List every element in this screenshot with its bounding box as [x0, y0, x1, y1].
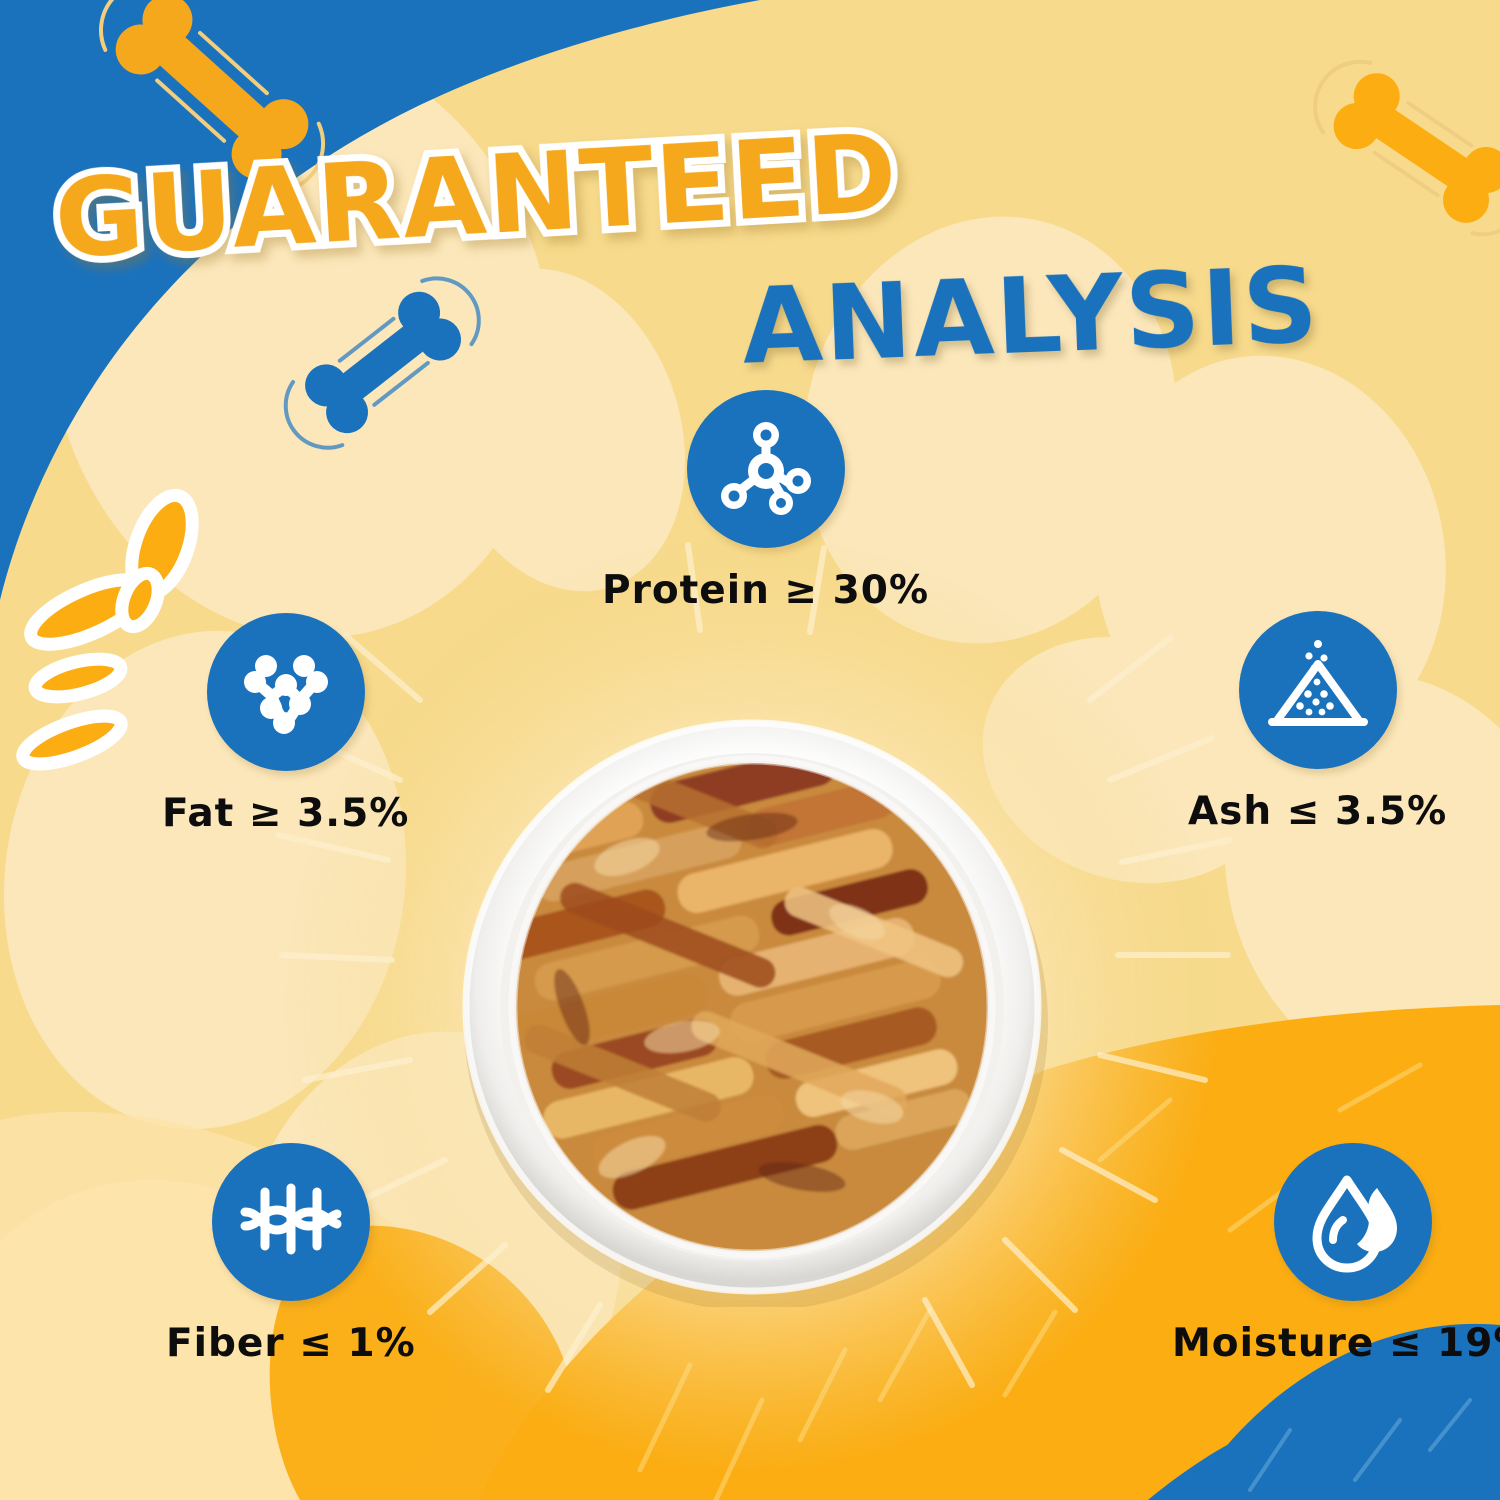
title-line-guaranteed: GUARANTEED — [52, 111, 902, 283]
title-line-analysis: ANALYSIS — [740, 244, 1322, 388]
fat-label: Fat ≥ 3.5% — [162, 791, 409, 836]
product-photo-bowl — [452, 707, 1052, 1307]
poster-canvas: GUARANTEED ANALYSIS — [0, 0, 1500, 1500]
nutrient-item-protein[interactable]: Protein ≥ 30% — [602, 390, 929, 613]
protein-badge[interactable] — [687, 390, 845, 548]
nutrient-item-fat[interactable]: Fat ≥ 3.5% — [162, 613, 409, 836]
fat-molecule-heart-icon — [232, 638, 340, 746]
nutrient-item-moisture[interactable]: Moisture ≤ 19% — [1172, 1143, 1500, 1366]
fat-badge[interactable] — [207, 613, 365, 771]
ash-label: Ash ≤ 3.5% — [1188, 789, 1447, 834]
moisture-label: Moisture ≤ 19% — [1172, 1321, 1500, 1366]
ash-badge[interactable] — [1239, 611, 1397, 769]
fiber-weave-icon — [237, 1168, 345, 1276]
moisture-badge[interactable] — [1274, 1143, 1432, 1301]
nutrient-item-fiber[interactable]: Fiber ≤ 1% — [166, 1143, 416, 1366]
ash-mound-icon — [1264, 636, 1372, 744]
water-droplet-icon — [1299, 1168, 1407, 1276]
fiber-label: Fiber ≤ 1% — [166, 1321, 416, 1366]
molecule-icon — [712, 415, 820, 523]
nutrient-item-ash[interactable]: Ash ≤ 3.5% — [1188, 611, 1447, 834]
protein-label: Protein ≥ 30% — [602, 568, 929, 613]
fiber-badge[interactable] — [212, 1143, 370, 1301]
page-title: GUARANTEED ANALYSIS — [0, 70, 1500, 360]
